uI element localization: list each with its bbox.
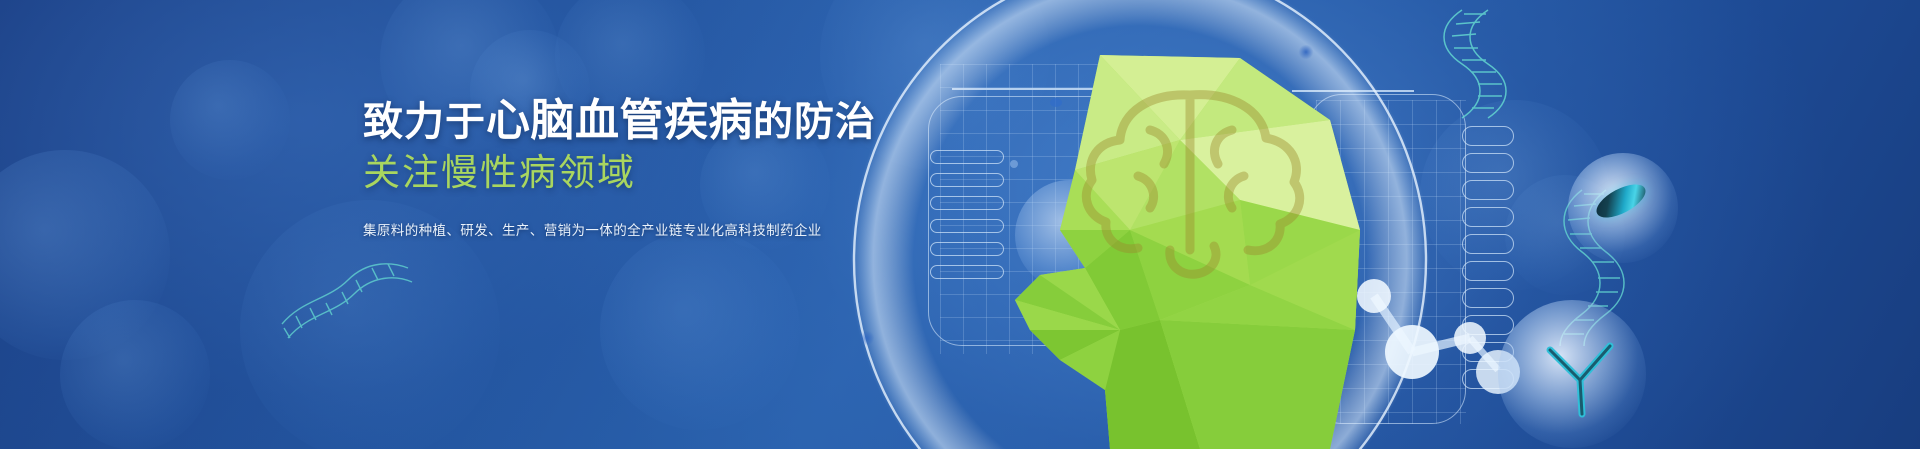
hero-banner: 致力于心脑血管疾病的防治 关注慢性病领域 集原料的种植、研发、生产、营销为一体的… xyxy=(0,0,1920,449)
tagline: 集原料的种植、研发、生产、营销为一体的全产业链专业化高科技制药企业 xyxy=(363,221,876,241)
headline-accent: 心脑血管疾病 xyxy=(486,96,753,145)
headline: 致力于心脑血管疾病的防治 xyxy=(363,96,876,147)
speck xyxy=(1010,160,1018,168)
speck xyxy=(1298,45,1314,59)
banner-copy: 致力于心脑血管疾病的防治 关注慢性病领域 集原料的种植、研发、生产、营销为一体的… xyxy=(363,96,876,241)
speck-layer xyxy=(0,0,1920,449)
headline-suffix: 的防治 xyxy=(753,100,876,144)
speck xyxy=(860,330,874,346)
speck xyxy=(1050,98,1062,107)
subheadline: 关注慢性病领域 xyxy=(363,147,876,199)
headline-prefix: 致力于 xyxy=(363,100,486,144)
